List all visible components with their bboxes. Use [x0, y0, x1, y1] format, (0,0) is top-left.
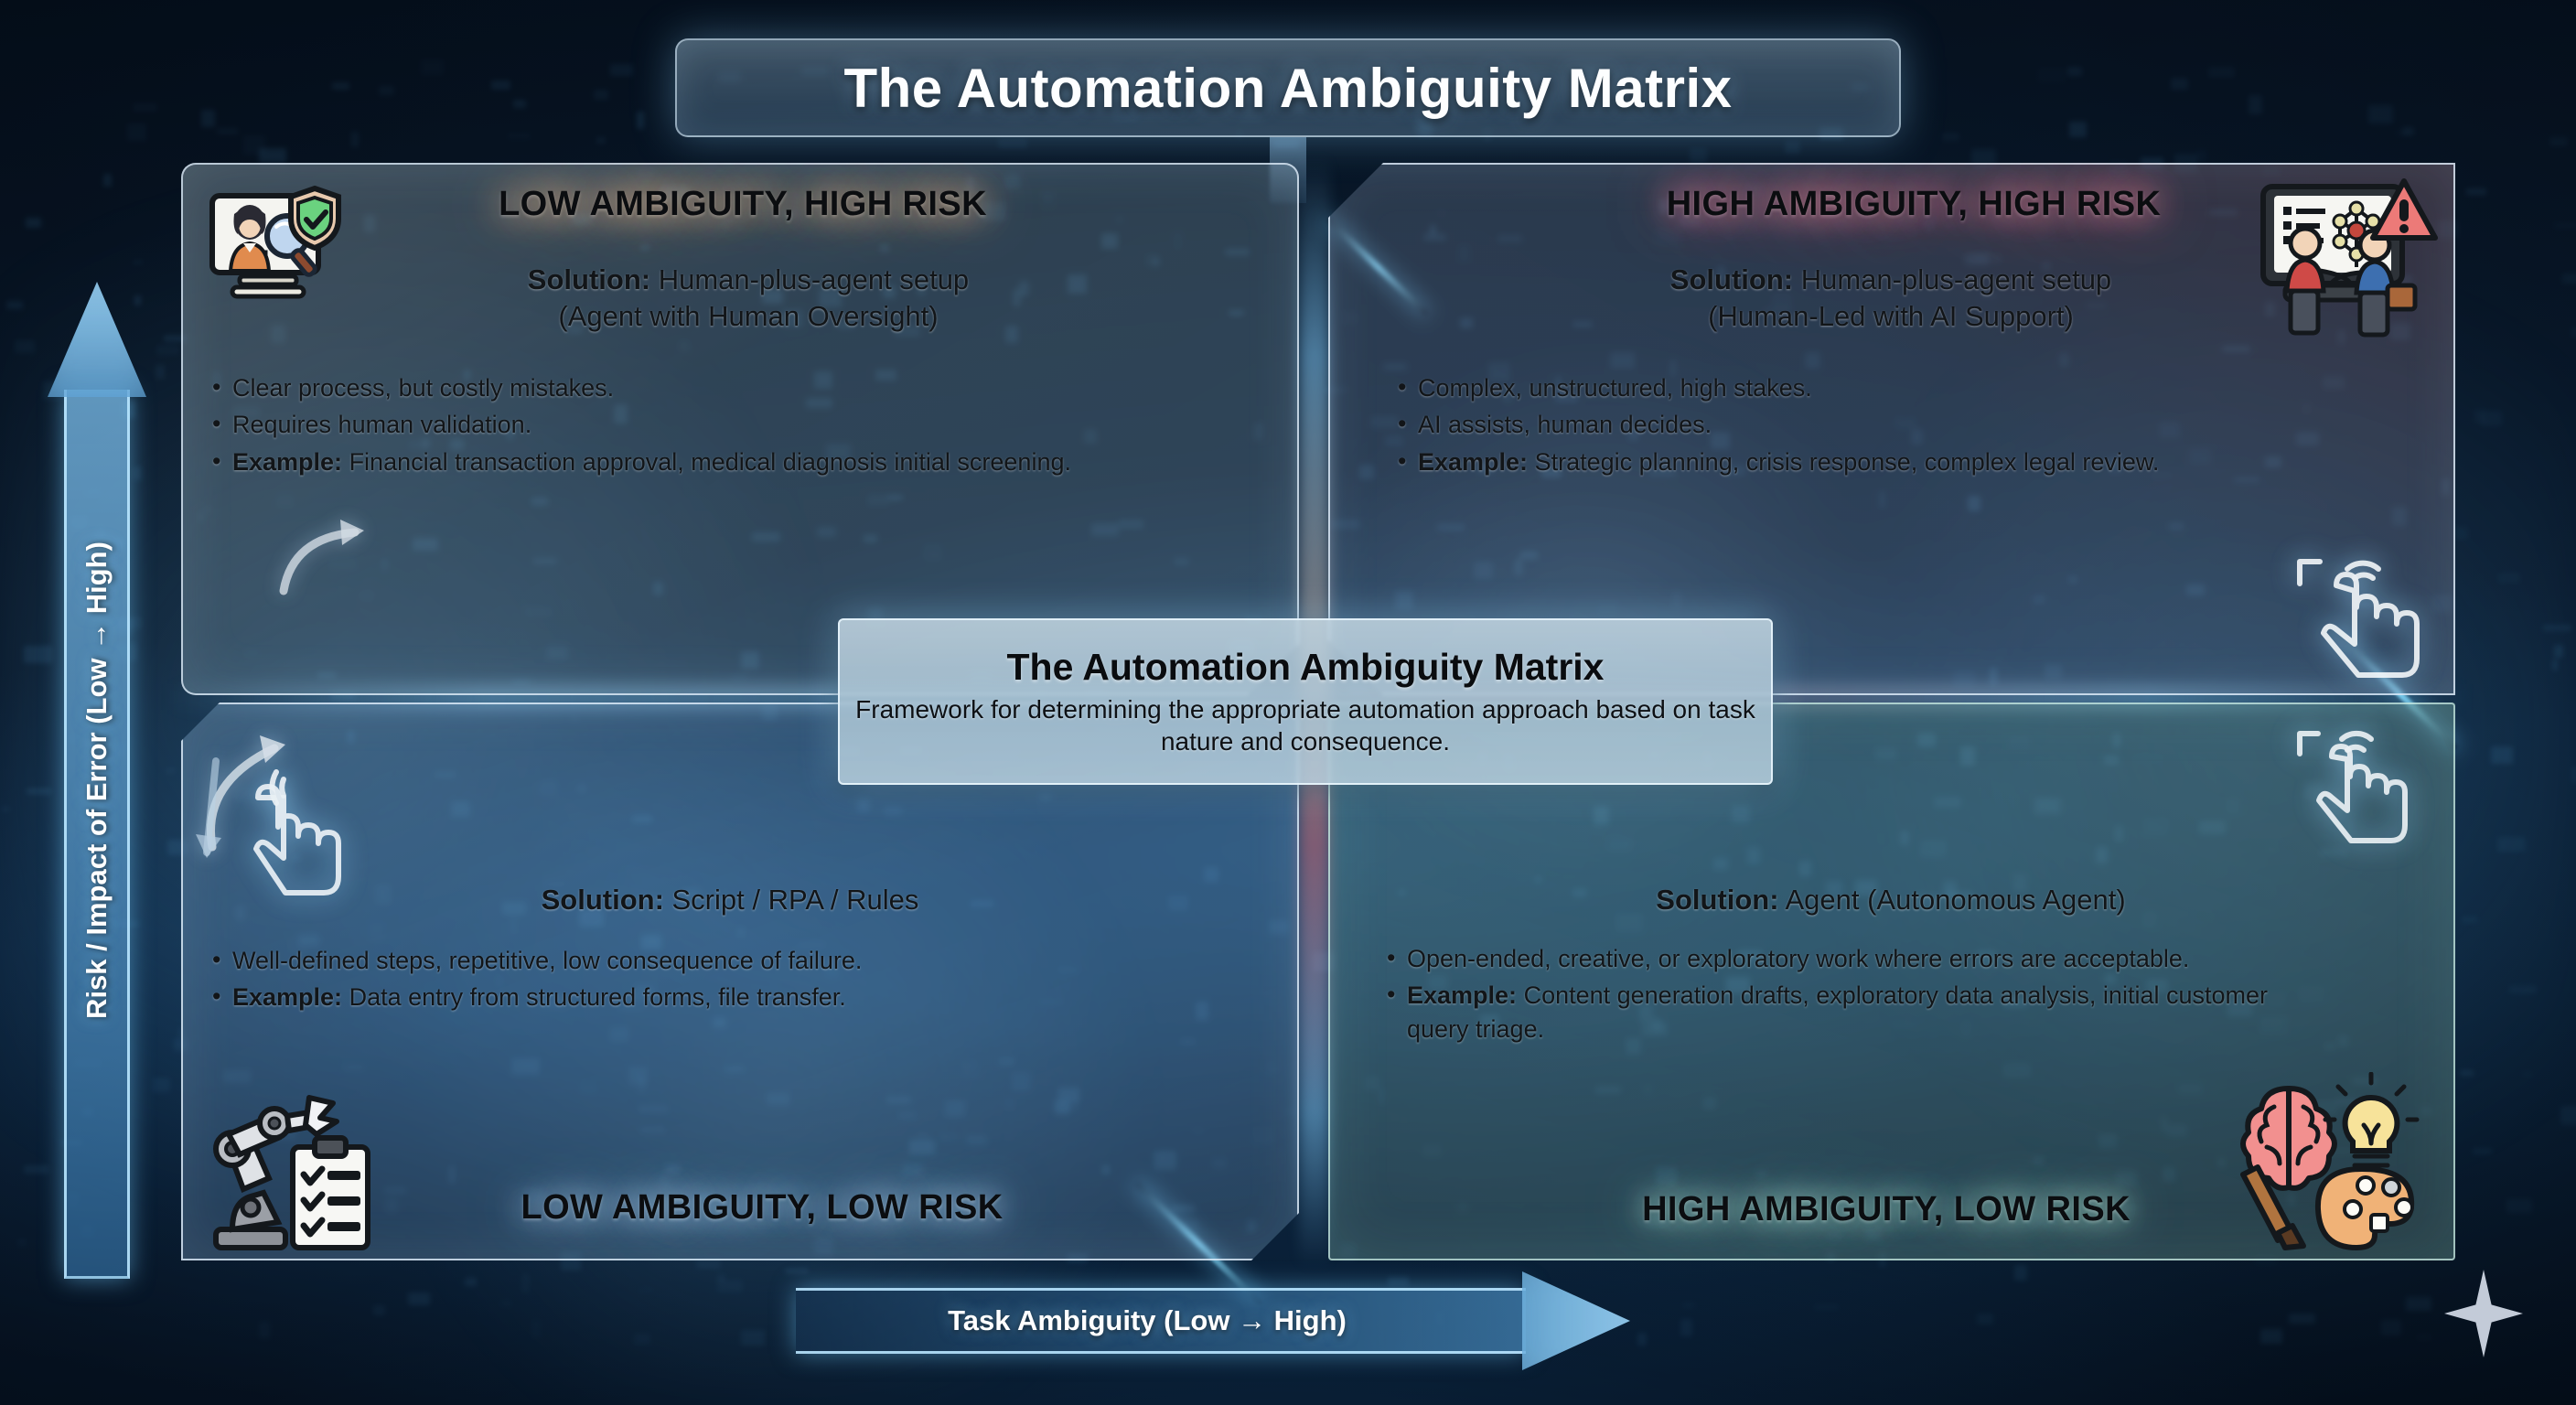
bullet-list: Complex, unstructured, high stakes. AI a… [1394, 371, 2318, 482]
x-axis-label: Task Ambiguity (Low → High) [948, 1304, 1347, 1337]
bullet-lead: Example: [232, 448, 342, 476]
bullet-text: Complex, unstructured, high stakes. [1418, 374, 1812, 402]
infographic-canvas: The Automation Ambiguity Matrix [0, 0, 2576, 1405]
bullet-lead: Example: [1418, 448, 1528, 476]
curved-arrow-icon [271, 503, 408, 604]
cycle-arrow-icon [194, 719, 359, 874]
list-item: Example: Financial transaction approval,… [209, 445, 1187, 478]
list-item: Well-defined steps, repetitive, low cons… [209, 944, 1105, 977]
list-item: Requires human validation. [209, 408, 1187, 441]
list-item: Example: Content generation drafts, expl… [1383, 979, 2325, 1046]
solution-line-2: (Human-Led with AI Support) [1429, 298, 2353, 335]
robot-arm-checklist-icon [181, 1083, 382, 1257]
bullet-text: Content generation drafts, exploratory d… [1407, 981, 2268, 1042]
bullet-text: Open-ended, creative, or exploratory wor… [1407, 945, 2189, 972]
y-axis-risk: Risk / Impact of Error (Low → High) [48, 282, 146, 1279]
list-item: Complex, unstructured, high stakes. [1394, 371, 2318, 404]
solution-label: Solution: [1656, 884, 1778, 916]
bullet-text: Data entry from structured forms, file t… [342, 983, 846, 1011]
solution-label: Solution: [528, 263, 650, 295]
bullet-list: Well-defined steps, repetitive, low cons… [209, 944, 1105, 1018]
solution-line-1: Script / RPA / Rules [664, 884, 919, 916]
solution-text: Solution: Human-plus-agent setup (Human-… [1429, 262, 2353, 336]
bullet-text: Well-defined steps, repetitive, low cons… [232, 947, 862, 974]
solution-line-1: Human-plus-agent setup [1793, 263, 2111, 295]
page-title-text: The Automation Ambiguity Matrix [843, 57, 1732, 120]
bullet-lead: Example: [232, 983, 342, 1011]
bullet-list: Open-ended, creative, or exploratory wor… [1383, 942, 2325, 1049]
list-item: Clear process, but costly mistakes. [209, 371, 1187, 404]
list-item: Example: Strategic planning, crisis resp… [1394, 445, 2318, 478]
tap-hand-icon [2291, 712, 2437, 858]
solution-line-1: Agent (Autonomous Agent) [1779, 884, 2126, 916]
tap-hand-icon [2287, 538, 2442, 693]
quadrant-heading: HIGH AMBIGUITY, HIGH RISK [1447, 185, 2380, 224]
center-card-title: The Automation Ambiguity Matrix [1007, 646, 1605, 689]
quadrant-heading: LOW AMBIGUITY, HIGH RISK [240, 185, 1246, 224]
center-summary-card: The Automation Ambiguity Matrix Framewor… [838, 618, 1773, 785]
quadrant-high-ambiguity-high-risk[interactable]: HIGH AMBIGUITY, HIGH RISK [1328, 163, 2455, 695]
center-card-subtitle: Framework for determining the appropriat… [840, 694, 1771, 756]
solution-label: Solution: [1670, 263, 1793, 295]
bullet-text: Requires human validation. [232, 411, 531, 438]
x-axis-arrowhead [1522, 1271, 1630, 1370]
quadrant-heading: HIGH AMBIGUITY, LOW RISK [1484, 1190, 2289, 1229]
solution-text: Solution: Human-plus-agent setup (Agent … [245, 262, 1251, 336]
bullet-text: AI assists, human decides. [1418, 411, 1712, 438]
solution-line-1: Human-plus-agent setup [650, 263, 969, 295]
y-axis-label: Risk / Impact of Error (Low → High) [80, 542, 113, 1019]
quadrant-low-ambiguity-high-risk[interactable]: LOW AMBIGUITY, HIGH RISK Solution: Human… [181, 163, 1299, 695]
list-item: Example: Data entry from structured form… [209, 981, 1105, 1014]
solution-text: Solution: Script / RPA / Rules [236, 882, 1224, 918]
bullet-list: Clear process, but costly mistakes. Requ… [209, 371, 1187, 482]
solution-text: Solution: Agent (Autonomous Agent) [1411, 882, 2371, 918]
x-axis-ambiguity: Task Ambiguity (Low → High) [796, 1271, 1630, 1370]
quadrant-high-ambiguity-low-risk[interactable]: Solution: Agent (Autonomous Agent) Open-… [1328, 702, 2455, 1260]
bullet-lead: Example: [1407, 981, 1517, 1009]
list-item: AI assists, human decides. [1394, 408, 2318, 441]
y-axis-arrowhead [48, 282, 146, 397]
list-item: Open-ended, creative, or exploratory wor… [1383, 942, 2325, 975]
bullet-text: Clear process, but costly mistakes. [232, 374, 614, 402]
solution-label: Solution: [542, 884, 664, 916]
quadrant-low-ambiguity-low-risk[interactable]: Solution: Script / RPA / Rules Well-defi… [181, 702, 1299, 1260]
page-title: The Automation Ambiguity Matrix [675, 38, 1901, 137]
bullet-text: Financial transaction approval, medical … [342, 448, 1071, 476]
solution-line-2: (Agent with Human Oversight) [245, 298, 1251, 335]
bullet-text: Strategic planning, crisis response, com… [1528, 448, 2159, 476]
quadrant-heading: LOW AMBIGUITY, LOW RISK [355, 1188, 1169, 1228]
